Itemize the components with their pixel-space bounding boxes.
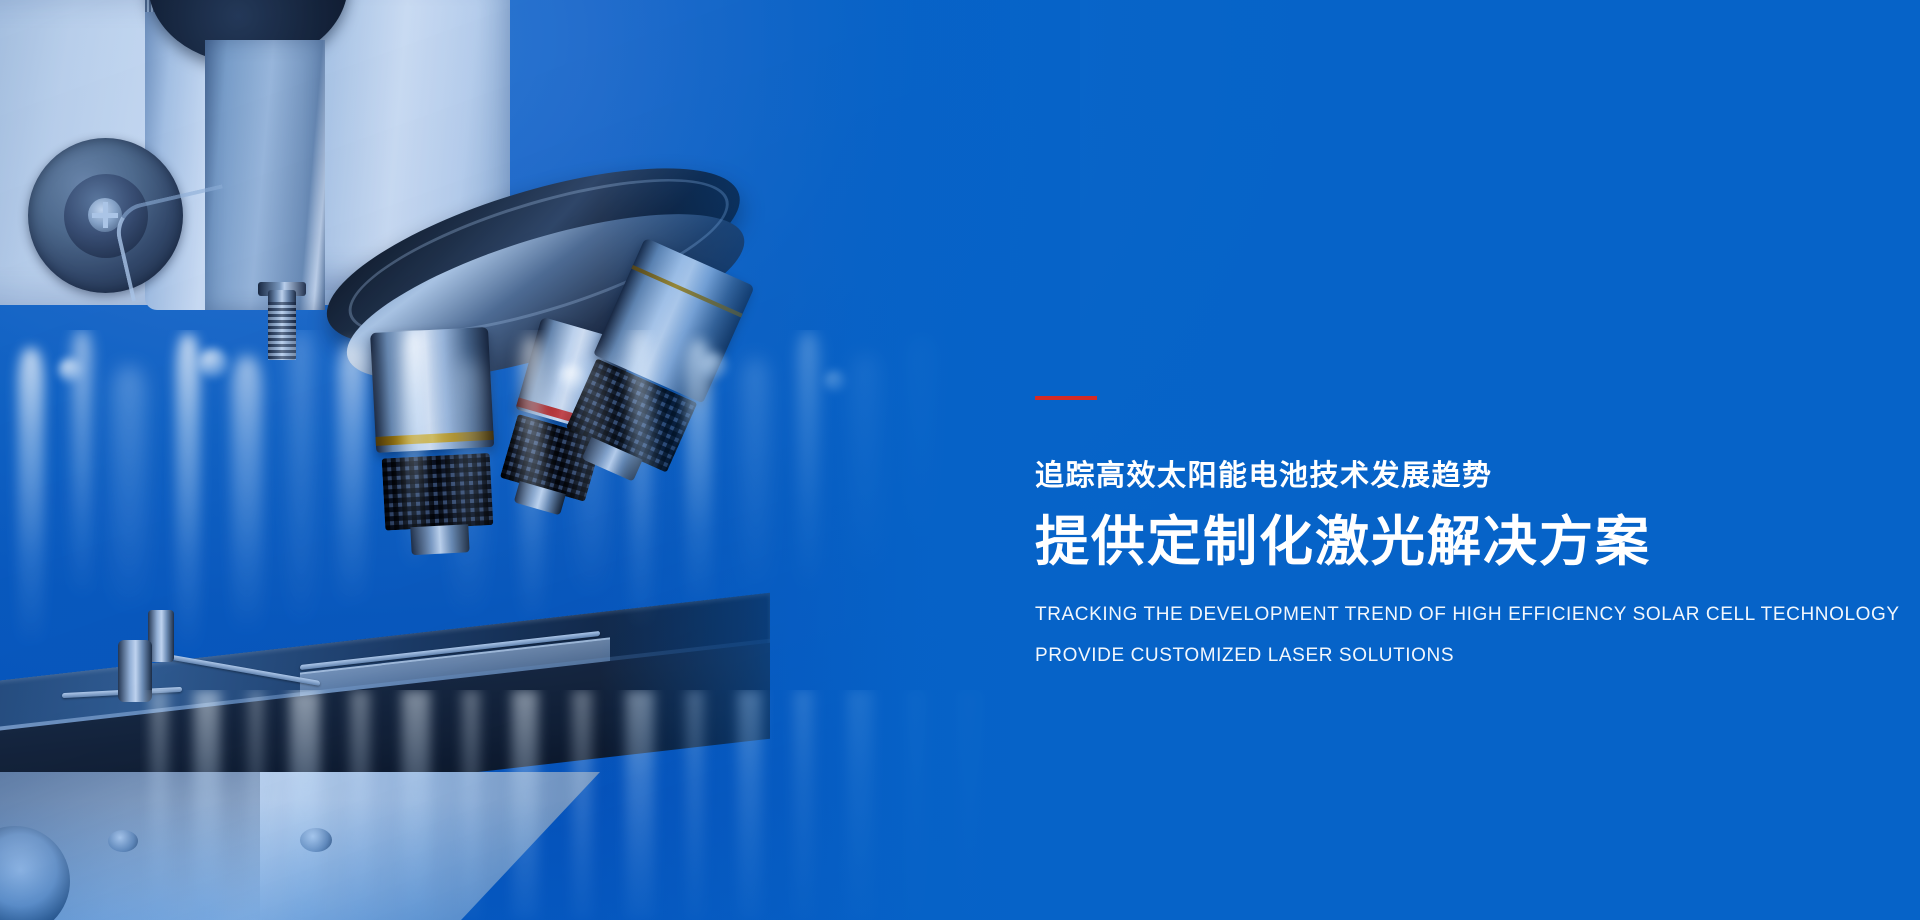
hero-text-block: 追踪高效太阳能电池技术发展趋势 提供定制化激光解决方案 TRACKING THE… <box>1035 396 1855 665</box>
hero-english-line-1: TRACKING THE DEVELOPMENT TREND OF HIGH E… <box>1035 605 1855 624</box>
hero-title-chinese: 提供定制化激光解决方案 <box>1035 515 1855 569</box>
hero-subtitle-chinese: 追踪高效太阳能电池技术发展趋势 <box>1035 462 1855 491</box>
hero-banner: 追踪高效太阳能电池技术发展趋势 提供定制化激光解决方案 TRACKING THE… <box>0 0 1920 920</box>
red-accent-bar <box>1035 396 1097 400</box>
hero-english-line-2: PROVIDE CUSTOMIZED LASER SOLUTIONS <box>1035 646 1855 665</box>
